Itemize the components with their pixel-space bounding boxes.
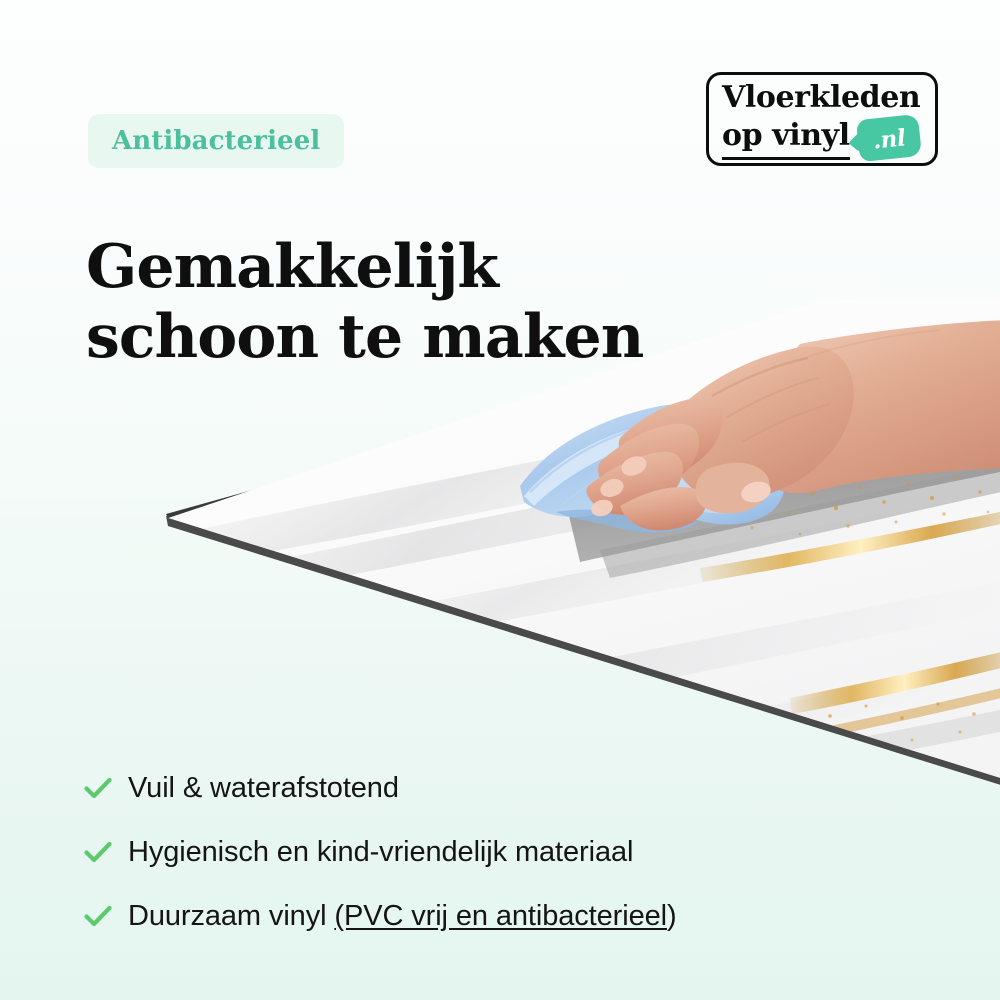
headline-line-1: Gemakkelijk: [86, 232, 706, 302]
check-icon: [84, 841, 128, 863]
logo-tld-label: .nl: [872, 126, 907, 152]
promo-poster: Antibacterieel Gemakkelijk schoon te mak…: [0, 0, 1000, 1000]
product-photo-illustration: [0, 300, 1000, 800]
cleaning-cloth: [520, 404, 786, 533]
brand-logo[interactable]: Vloerkleden op vinyl .nl: [706, 72, 938, 166]
logo-line-1: Vloerkleden: [722, 79, 930, 117]
list-item: Vuil & waterafstotend: [84, 756, 924, 820]
mat-shadow-band: [560, 378, 1000, 562]
logo-tld-tag: .nl: [856, 114, 922, 162]
gold-speckles: [715, 477, 990, 742]
logo-line-2: op vinyl: [722, 117, 850, 160]
feature-label: Hygienisch en kind-vriendelijk materiaal: [128, 836, 633, 869]
status-badge: Antibacterieel: [88, 114, 344, 168]
gold-vein-upper: [700, 510, 1000, 582]
feature-label: Duurzaam vinyl (PVC vrij en antibacterie…: [128, 900, 677, 933]
check-icon: [84, 777, 128, 799]
headline-line-2: schoon te maken: [86, 302, 706, 372]
list-item: Hygienisch en kind-vriendelijk materiaal: [84, 820, 924, 884]
feature-list: Vuil & waterafstotend Hygienisch en kind…: [84, 756, 924, 948]
feature-label-link[interactable]: (PVC vrij en antibacterieel: [334, 900, 667, 932]
product-photo: [0, 300, 1000, 800]
check-icon: [84, 905, 128, 927]
mat-surface: [150, 300, 1000, 798]
badge-label: Antibacterieel: [112, 126, 320, 156]
feature-label-lead: Duurzaam vinyl: [128, 900, 334, 932]
mat-edge-front: [166, 516, 1000, 786]
gold-vein-lower: [790, 650, 1000, 714]
list-item: Duurzaam vinyl (PVC vrij en antibacterie…: [84, 884, 924, 948]
page-title: Gemakkelijk schoon te maken: [86, 232, 706, 372]
feature-label: Vuil & waterafstotend: [128, 772, 399, 805]
feature-label-tail: ): [667, 900, 677, 932]
